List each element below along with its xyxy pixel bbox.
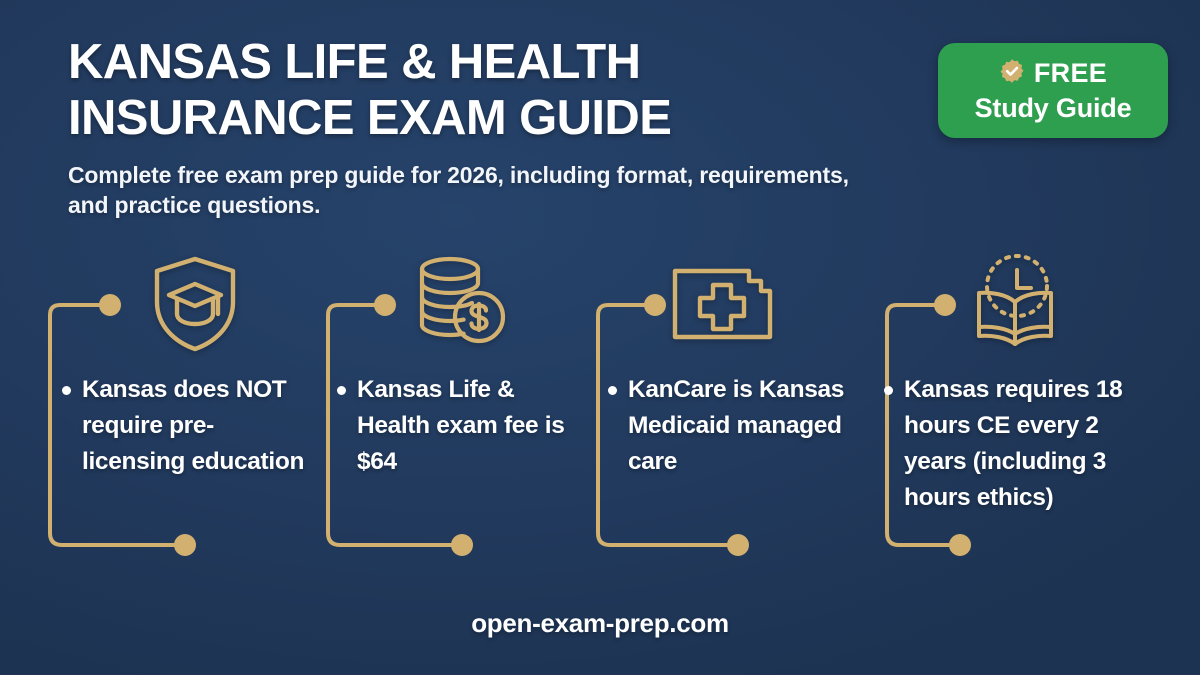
bullet-dot-icon	[62, 386, 71, 395]
kansas-map-medical-cross-icon	[668, 252, 778, 356]
shield-graduation-cap-icon	[140, 252, 250, 356]
bullet-column-4: Kansas requires 18 hours CE every 2 year…	[884, 372, 1152, 516]
header: KANSAS LIFE & HEALTH INSURANCE EXAM GUID…	[68, 34, 928, 220]
bullet-text-2: Kansas Life & Health exam fee is $64	[357, 372, 585, 480]
clock-open-book-icon	[960, 250, 1070, 354]
footer-website[interactable]: open-exam-prep.com	[0, 608, 1200, 639]
infographic-canvas: KANSAS LIFE & HEALTH INSURANCE EXAM GUID…	[0, 0, 1200, 675]
bullet-text-1: Kansas does NOT require pre-licensing ed…	[82, 372, 314, 480]
bullet-column-3: KanCare is Kansas Medicaid managed care	[608, 372, 863, 480]
rosette-check-icon	[999, 58, 1025, 88]
bullet-column-1: Kansas does NOT require pre-licensing ed…	[62, 372, 314, 480]
page-title: KANSAS LIFE & HEALTH INSURANCE EXAM GUID…	[68, 34, 928, 146]
bullet-dot-icon	[884, 386, 893, 395]
page-subtitle: Complete free exam prep guide for 2026, …	[68, 160, 888, 220]
bullet-dot-icon	[337, 386, 346, 395]
bullet-dot-icon	[608, 386, 617, 395]
free-study-guide-badge[interactable]: FREE Study Guide	[938, 43, 1168, 138]
bullet-column-2: Kansas Life & Health exam fee is $64	[337, 372, 585, 480]
badge-study-guide-label: Study Guide	[975, 93, 1132, 124]
badge-top-line: FREE	[999, 58, 1107, 88]
coin-stack-dollar-icon	[405, 250, 515, 354]
bullet-text-4: Kansas requires 18 hours CE every 2 year…	[904, 372, 1152, 516]
bullet-text-3: KanCare is Kansas Medicaid managed care	[628, 372, 863, 480]
badge-free-label: FREE	[1034, 60, 1107, 87]
